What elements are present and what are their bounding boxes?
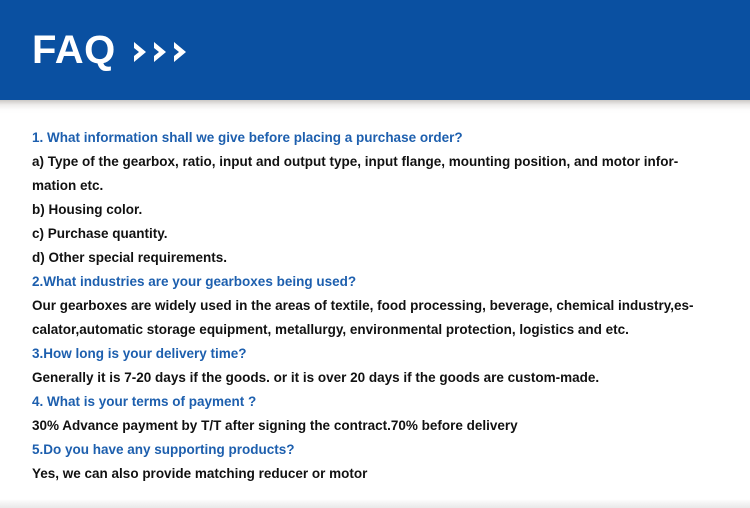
faq-question: 5.Do you have any supporting products?	[32, 438, 722, 462]
header-content: FAQ	[32, 28, 192, 72]
faq-question: 2.What industries are your gearboxes bei…	[32, 270, 722, 294]
header-shadow-divider	[0, 100, 750, 114]
faq-answer-line: b) Housing color.	[32, 198, 722, 222]
faq-page: FAQ	[0, 0, 750, 508]
faq-answer-line: mation etc.	[32, 174, 722, 198]
faq-answer-line: Our gearboxes are widely used in the are…	[32, 294, 722, 318]
faq-answer-line: calator,automatic storage equipment, met…	[32, 318, 722, 342]
faq-answer-line: Generally it is 7-20 days if the goods. …	[32, 366, 722, 390]
faq-header-banner: FAQ	[0, 0, 750, 100]
faq-answer-line: d) Other special requirements.	[32, 246, 722, 270]
faq-entry: 4. What is your terms of payment ? 30% A…	[32, 390, 722, 438]
faq-entry: 1. What information shall we give before…	[32, 126, 722, 270]
chevron-right-icon	[172, 39, 192, 65]
faq-question: 4. What is your terms of payment ?	[32, 390, 722, 414]
bottom-divider-strip	[0, 499, 750, 508]
faq-answer-line: Yes, we can also provide matching reduce…	[32, 462, 722, 486]
chevron-right-icon	[132, 39, 152, 65]
faq-answer-line: c) Purchase quantity.	[32, 222, 722, 246]
faq-entry: 3.How long is your delivery time? Genera…	[32, 342, 722, 390]
page-title: FAQ	[32, 28, 116, 72]
faq-answer-line: a) Type of the gearbox, ratio, input and…	[32, 150, 722, 174]
faq-entry: 5.Do you have any supporting products? Y…	[32, 438, 722, 486]
faq-content: 1. What information shall we give before…	[32, 126, 722, 486]
faq-question: 1. What information shall we give before…	[32, 126, 722, 150]
chevron-right-icon	[152, 39, 172, 65]
faq-question: 3.How long is your delivery time?	[32, 342, 722, 366]
faq-entry: 2.What industries are your gearboxes bei…	[32, 270, 722, 342]
chevron-group	[132, 39, 192, 65]
faq-answer-line: 30% Advance payment by T/T after signing…	[32, 414, 722, 438]
